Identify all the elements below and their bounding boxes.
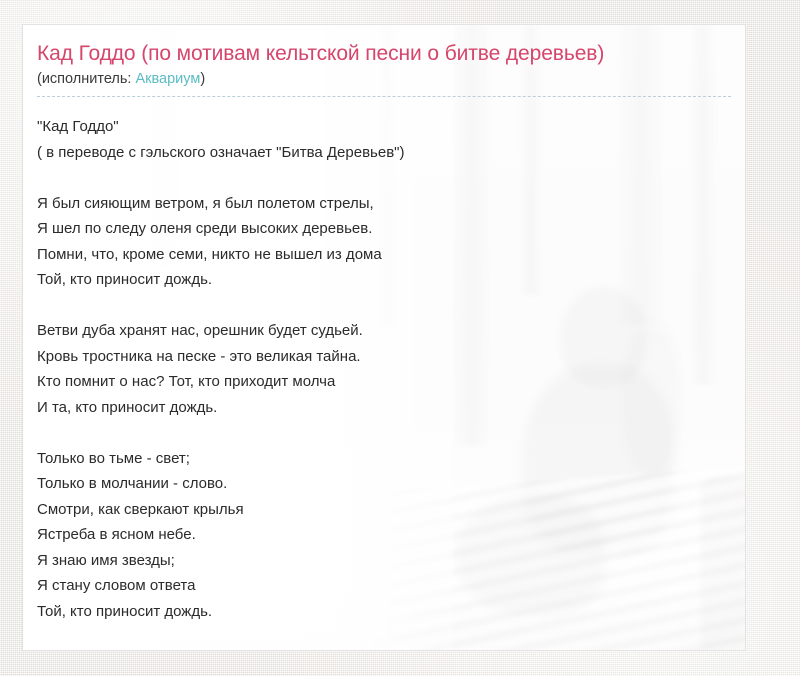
artist-prefix-label: (исполнитель: <box>37 71 135 87</box>
lyric-line: Я шел по следу оленя среди высоких дерев… <box>37 216 731 242</box>
lyric-line: "Кад Годдо" <box>37 114 731 140</box>
song-content: Кад Годдо (по мотивам кельтской песни о … <box>23 25 745 624</box>
lyric-verse: Я был сияющим ветром, я был полетом стре… <box>37 191 731 293</box>
lyrics-body: "Кад Годдо"( в переводе с гэльского озна… <box>37 114 731 624</box>
page-title: Кад Годдо (по мотивам кельтской песни о … <box>37 41 731 67</box>
page-frame: Кад Годдо (по мотивам кельтской песни о … <box>0 0 800 676</box>
content-panel: Кад Годдо (по мотивам кельтской песни о … <box>22 24 746 651</box>
artist-line: (исполнитель: Аквариум) <box>37 70 731 97</box>
lyric-line: Кровь тростника на песке - это великая т… <box>37 344 731 370</box>
artist-suffix-label: ) <box>200 71 205 87</box>
lyric-line: Я был сияющим ветром, я был полетом стре… <box>37 191 731 217</box>
lyric-line: Ястреба в ясном небе. <box>37 522 731 548</box>
lyric-line: Я знаю имя звезды; <box>37 548 731 574</box>
lyric-line: ( в переводе с гэльского означает "Битва… <box>37 140 731 166</box>
lyric-verse: Ветви дуба хранят нас, орешник будет суд… <box>37 318 731 420</box>
lyric-line: И та, кто приносит дождь. <box>37 395 731 421</box>
lyric-line: Я стану словом ответа <box>37 573 731 599</box>
lyric-line: Смотри, как сверкают крылья <box>37 497 731 523</box>
artist-link[interactable]: Аквариум <box>135 71 200 87</box>
lyric-line: Только во тьме - свет; <box>37 446 731 472</box>
lyric-verse: "Кад Годдо"( в переводе с гэльского озна… <box>37 114 731 165</box>
lyric-line: Только в молчании - слово. <box>37 471 731 497</box>
lyric-line: Ветви дуба хранят нас, орешник будет суд… <box>37 318 731 344</box>
lyric-line: Кто помнит о нас? Тот, кто приходит молч… <box>37 369 731 395</box>
lyric-line: Той, кто приносит дождь. <box>37 267 731 293</box>
lyric-line: Помни, что, кроме семи, никто не вышел и… <box>37 242 731 268</box>
lyric-line: Той, кто приносит дождь. <box>37 599 731 625</box>
lyric-verse: Только во тьме - свет;Только в молчании … <box>37 446 731 625</box>
